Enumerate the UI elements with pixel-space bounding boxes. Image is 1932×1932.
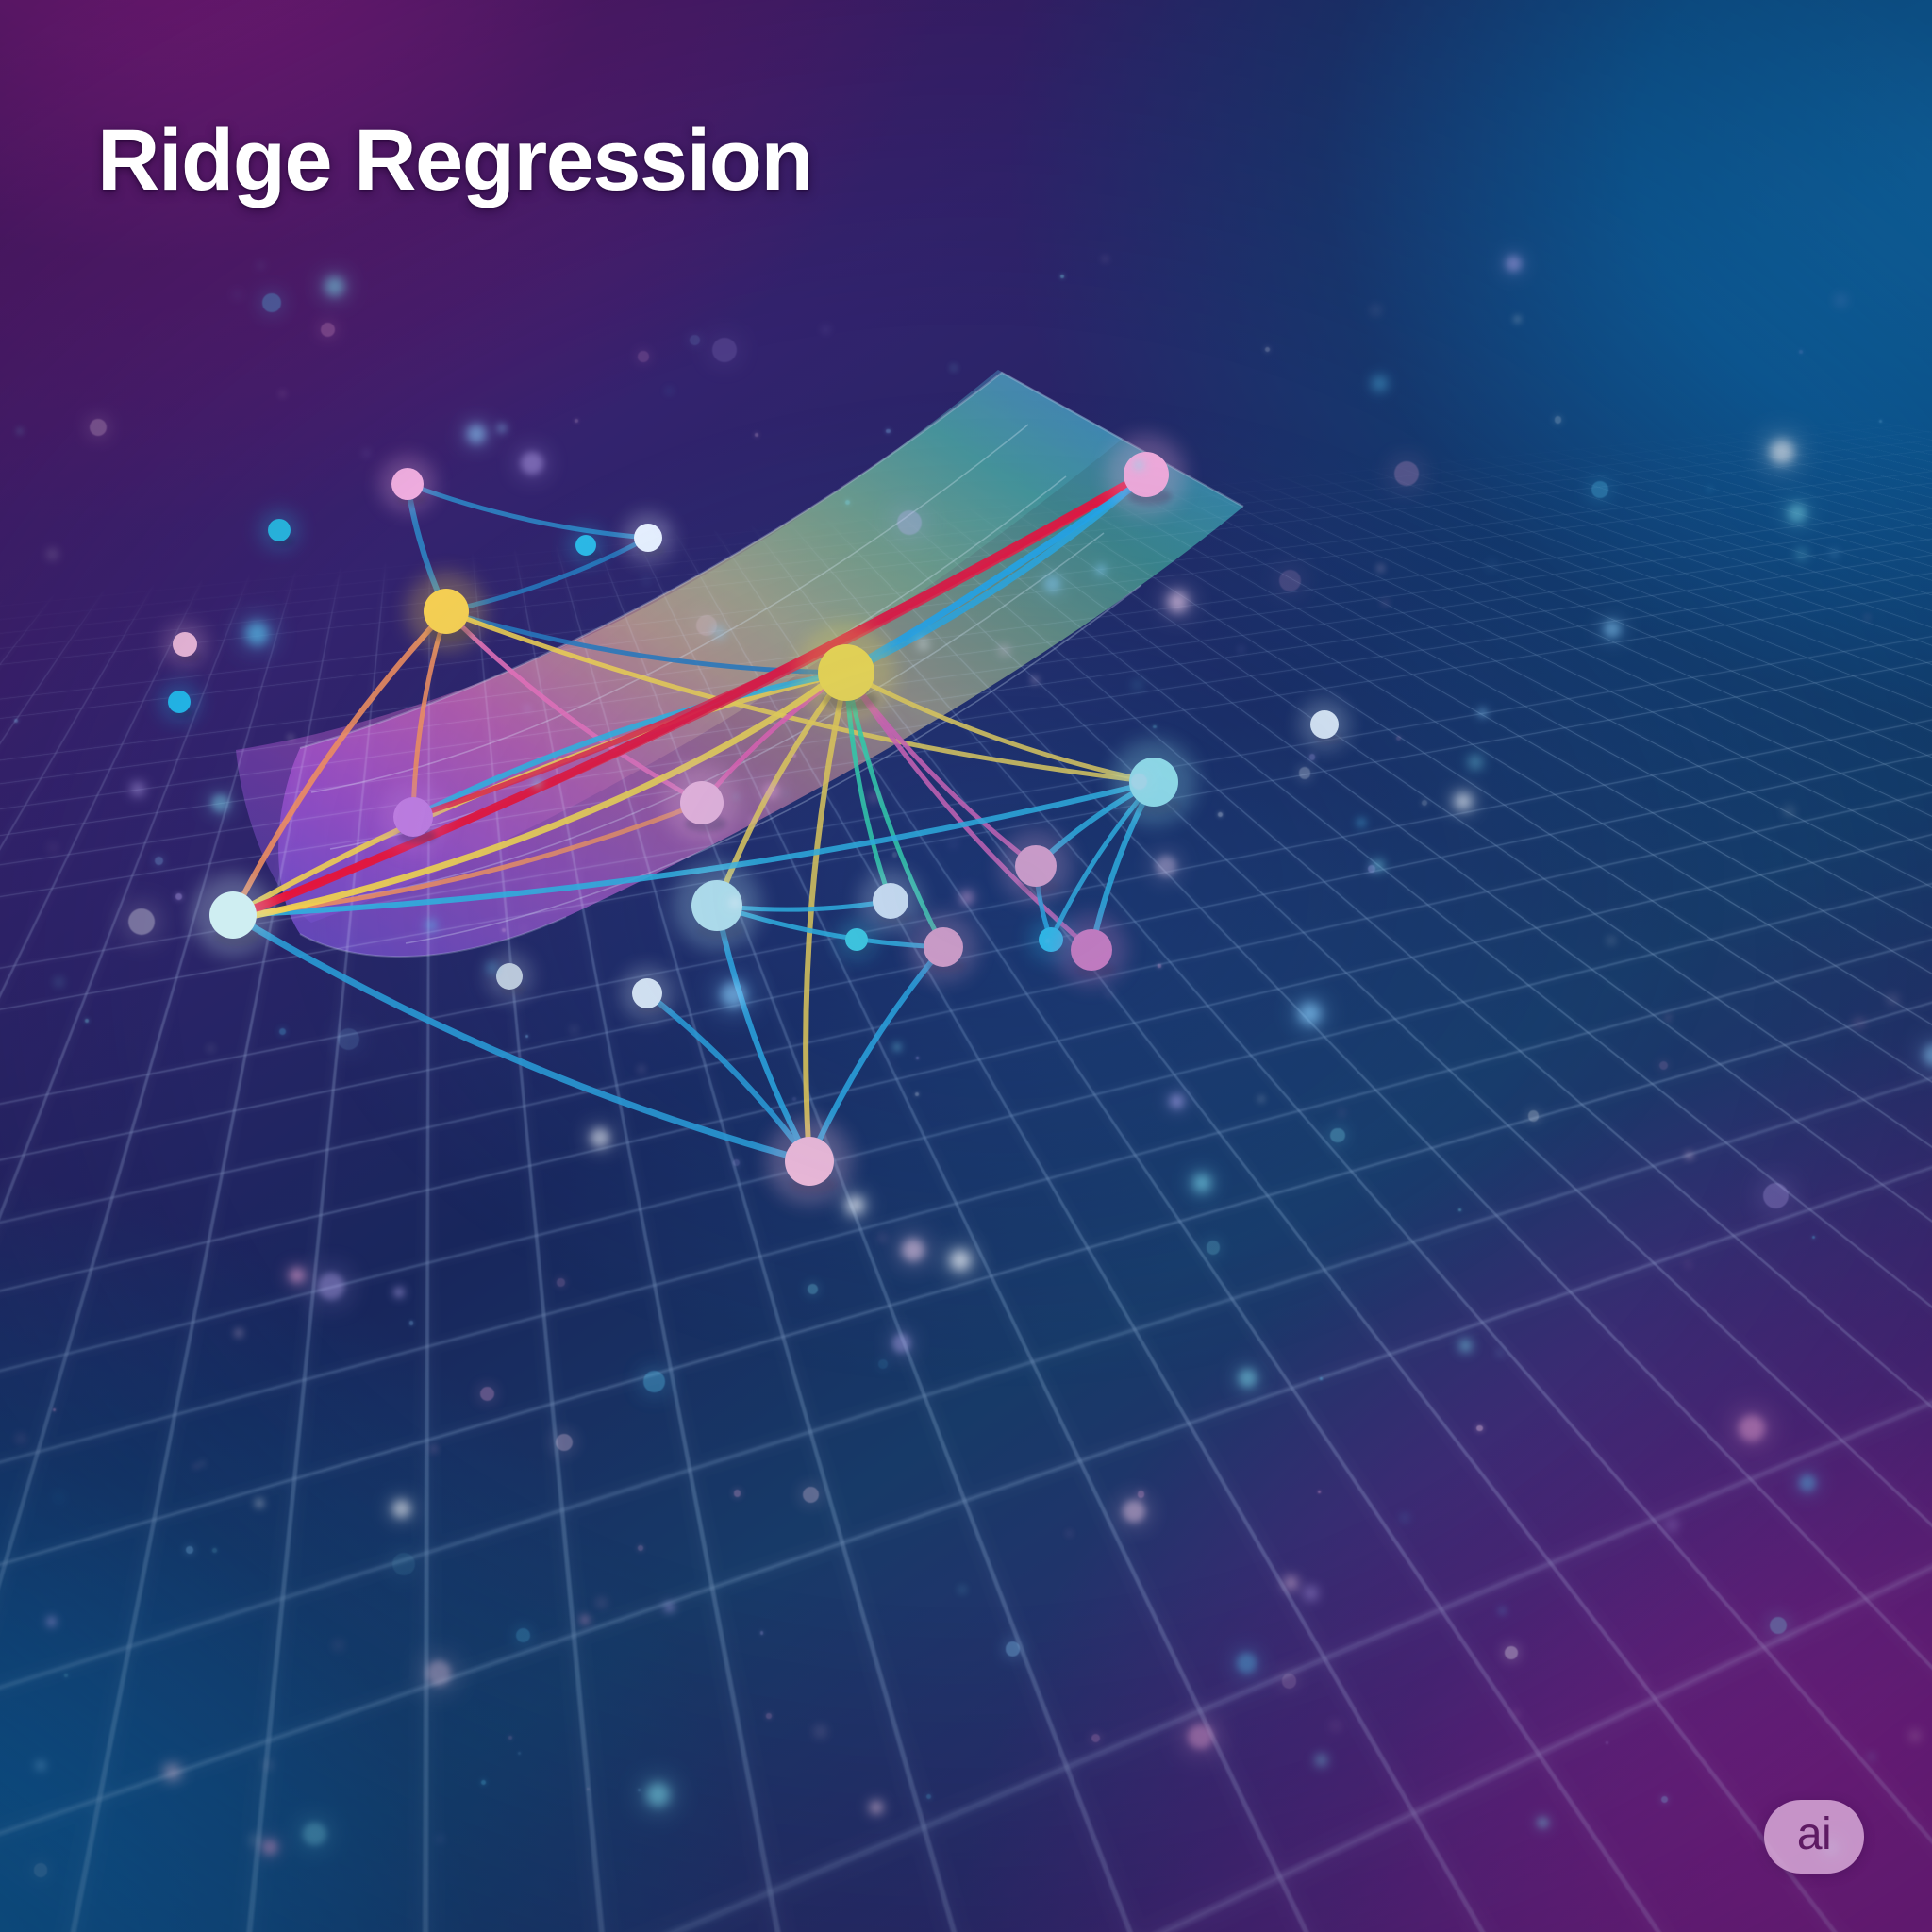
node-yellow-center-hub[interactable] (797, 624, 896, 723)
node-white-upper[interactable] (624, 513, 674, 563)
graph-edge (408, 484, 648, 538)
node-white-lower[interactable] (859, 870, 923, 933)
node-pink-top-left[interactable] (379, 456, 436, 512)
node-violet-mid[interactable] (378, 782, 448, 852)
node-pink-top-right[interactable] (1107, 435, 1186, 514)
node-pale-cyan-lower[interactable] (673, 861, 762, 951)
node-pale-far-right[interactable] (1300, 700, 1350, 750)
node-cyan-left[interactable] (159, 682, 199, 722)
node-white-bottom-left[interactable] (621, 967, 674, 1020)
illustration-canvas: Ridge Regression ai (0, 0, 1932, 1932)
node-cyan-upper[interactable] (568, 527, 605, 564)
node-magenta-right[interactable] (1056, 914, 1128, 987)
page-title: Ridge Regression (97, 117, 812, 204)
node-cyan-mid[interactable] (259, 510, 299, 550)
node-pink-right[interactable] (1000, 830, 1073, 903)
node-pink-bottom[interactable] (767, 1119, 853, 1205)
node-grey-bottom-left[interactable] (487, 954, 533, 1000)
node-pink-mid[interactable] (664, 765, 741, 841)
node-cyan-right-hub[interactable] (1111, 740, 1197, 825)
ai-logo-label: ai (1797, 1812, 1831, 1857)
node-pale-cyan-small[interactable] (837, 920, 876, 959)
node-pink-lower-right[interactable] (908, 912, 978, 982)
ai-logo-badge[interactable]: ai (1764, 1800, 1864, 1874)
network-graph-scene (0, 0, 1932, 1932)
node-pale-pink-far-left[interactable] (163, 623, 207, 666)
graph-edge (233, 915, 809, 1161)
node-pale-cyan-left[interactable] (192, 874, 275, 957)
node-amber-hub[interactable] (407, 572, 486, 651)
